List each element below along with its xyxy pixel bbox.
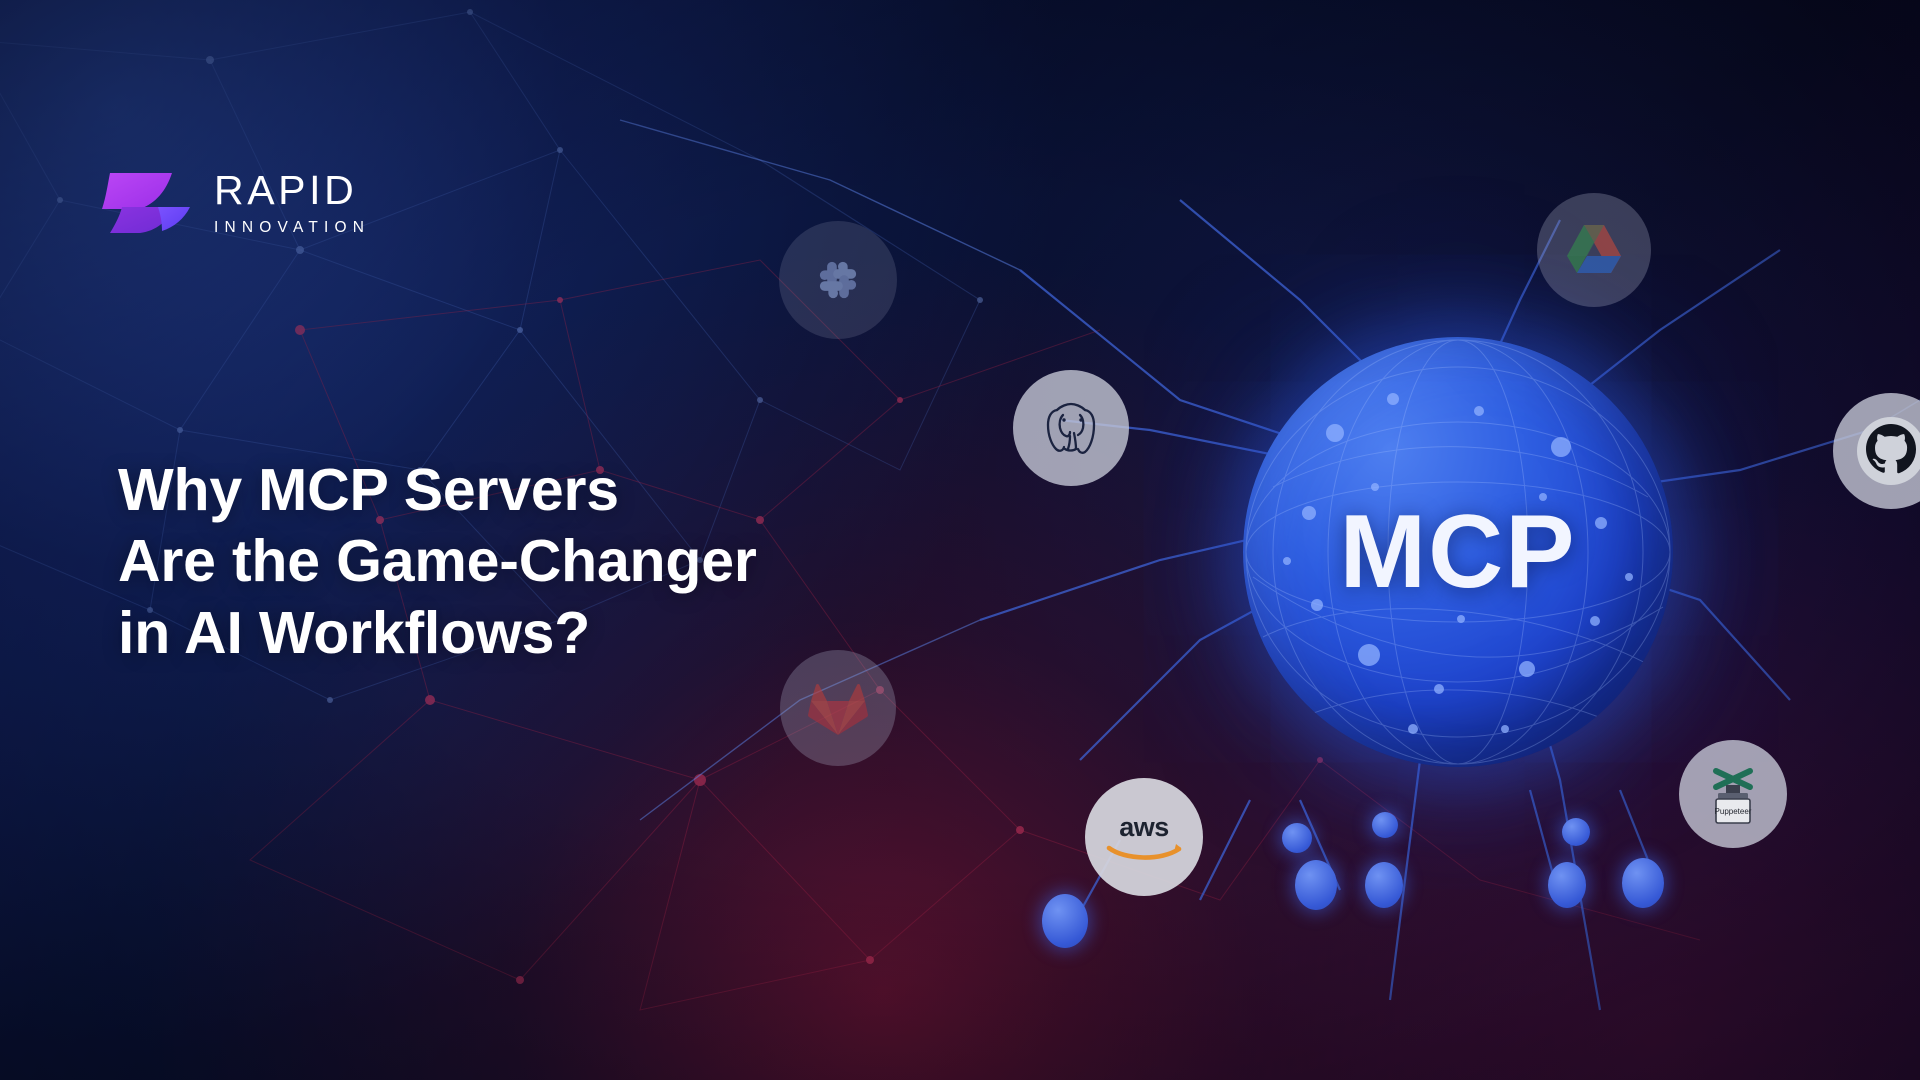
node-postgresql[interactable] <box>1013 370 1129 486</box>
slack-icon <box>809 251 867 309</box>
google-drive-icon <box>1563 222 1625 278</box>
headline-line-2: Are the Game-Changer <box>118 526 757 597</box>
connector-dot-4 <box>1548 862 1586 908</box>
rapid-innovation-logo-icon <box>96 167 192 239</box>
hero-banner: RAPID INNOVATION Why MCP Servers Are the… <box>0 0 1920 1080</box>
brand-name: RAPID <box>214 170 370 211</box>
connector-dot-6 <box>1282 823 1312 853</box>
headline-line-1: Why MCP Servers <box>118 455 757 526</box>
puppeteer-box-label: Puppeteer <box>1715 807 1752 816</box>
svg-text:aws: aws <box>1119 812 1169 842</box>
connector-dot-1 <box>1042 894 1088 948</box>
connector-dot-3 <box>1365 862 1403 908</box>
github-icon <box>1854 414 1920 488</box>
brand-logo[interactable]: RAPID INNOVATION <box>96 167 370 239</box>
node-gitlab[interactable] <box>780 650 896 766</box>
aws-icon: aws <box>1101 810 1187 864</box>
mcp-sphere: MCP <box>1243 337 1673 767</box>
node-slack[interactable] <box>779 221 897 339</box>
connector-dot-5 <box>1622 858 1664 908</box>
brand-tagline: INNOVATION <box>214 220 370 236</box>
node-google-drive[interactable] <box>1537 193 1651 307</box>
gitlab-icon <box>807 679 869 737</box>
sphere-label: MCP <box>1243 337 1673 767</box>
connector-dot-7 <box>1372 812 1398 838</box>
node-puppeteer[interactable]: Puppeteer <box>1679 740 1787 848</box>
postgresql-icon <box>1036 393 1106 463</box>
page-title: Why MCP Servers Are the Game-Changer in … <box>118 455 757 669</box>
headline-line-3: in AI Workflows? <box>118 598 757 669</box>
node-aws[interactable]: aws <box>1085 778 1203 896</box>
connector-dot-8 <box>1562 818 1590 846</box>
brand-wordmark: RAPID INNOVATION <box>214 170 370 236</box>
connector-dot-2 <box>1295 860 1337 910</box>
puppeteer-icon: Puppeteer <box>1696 757 1770 831</box>
